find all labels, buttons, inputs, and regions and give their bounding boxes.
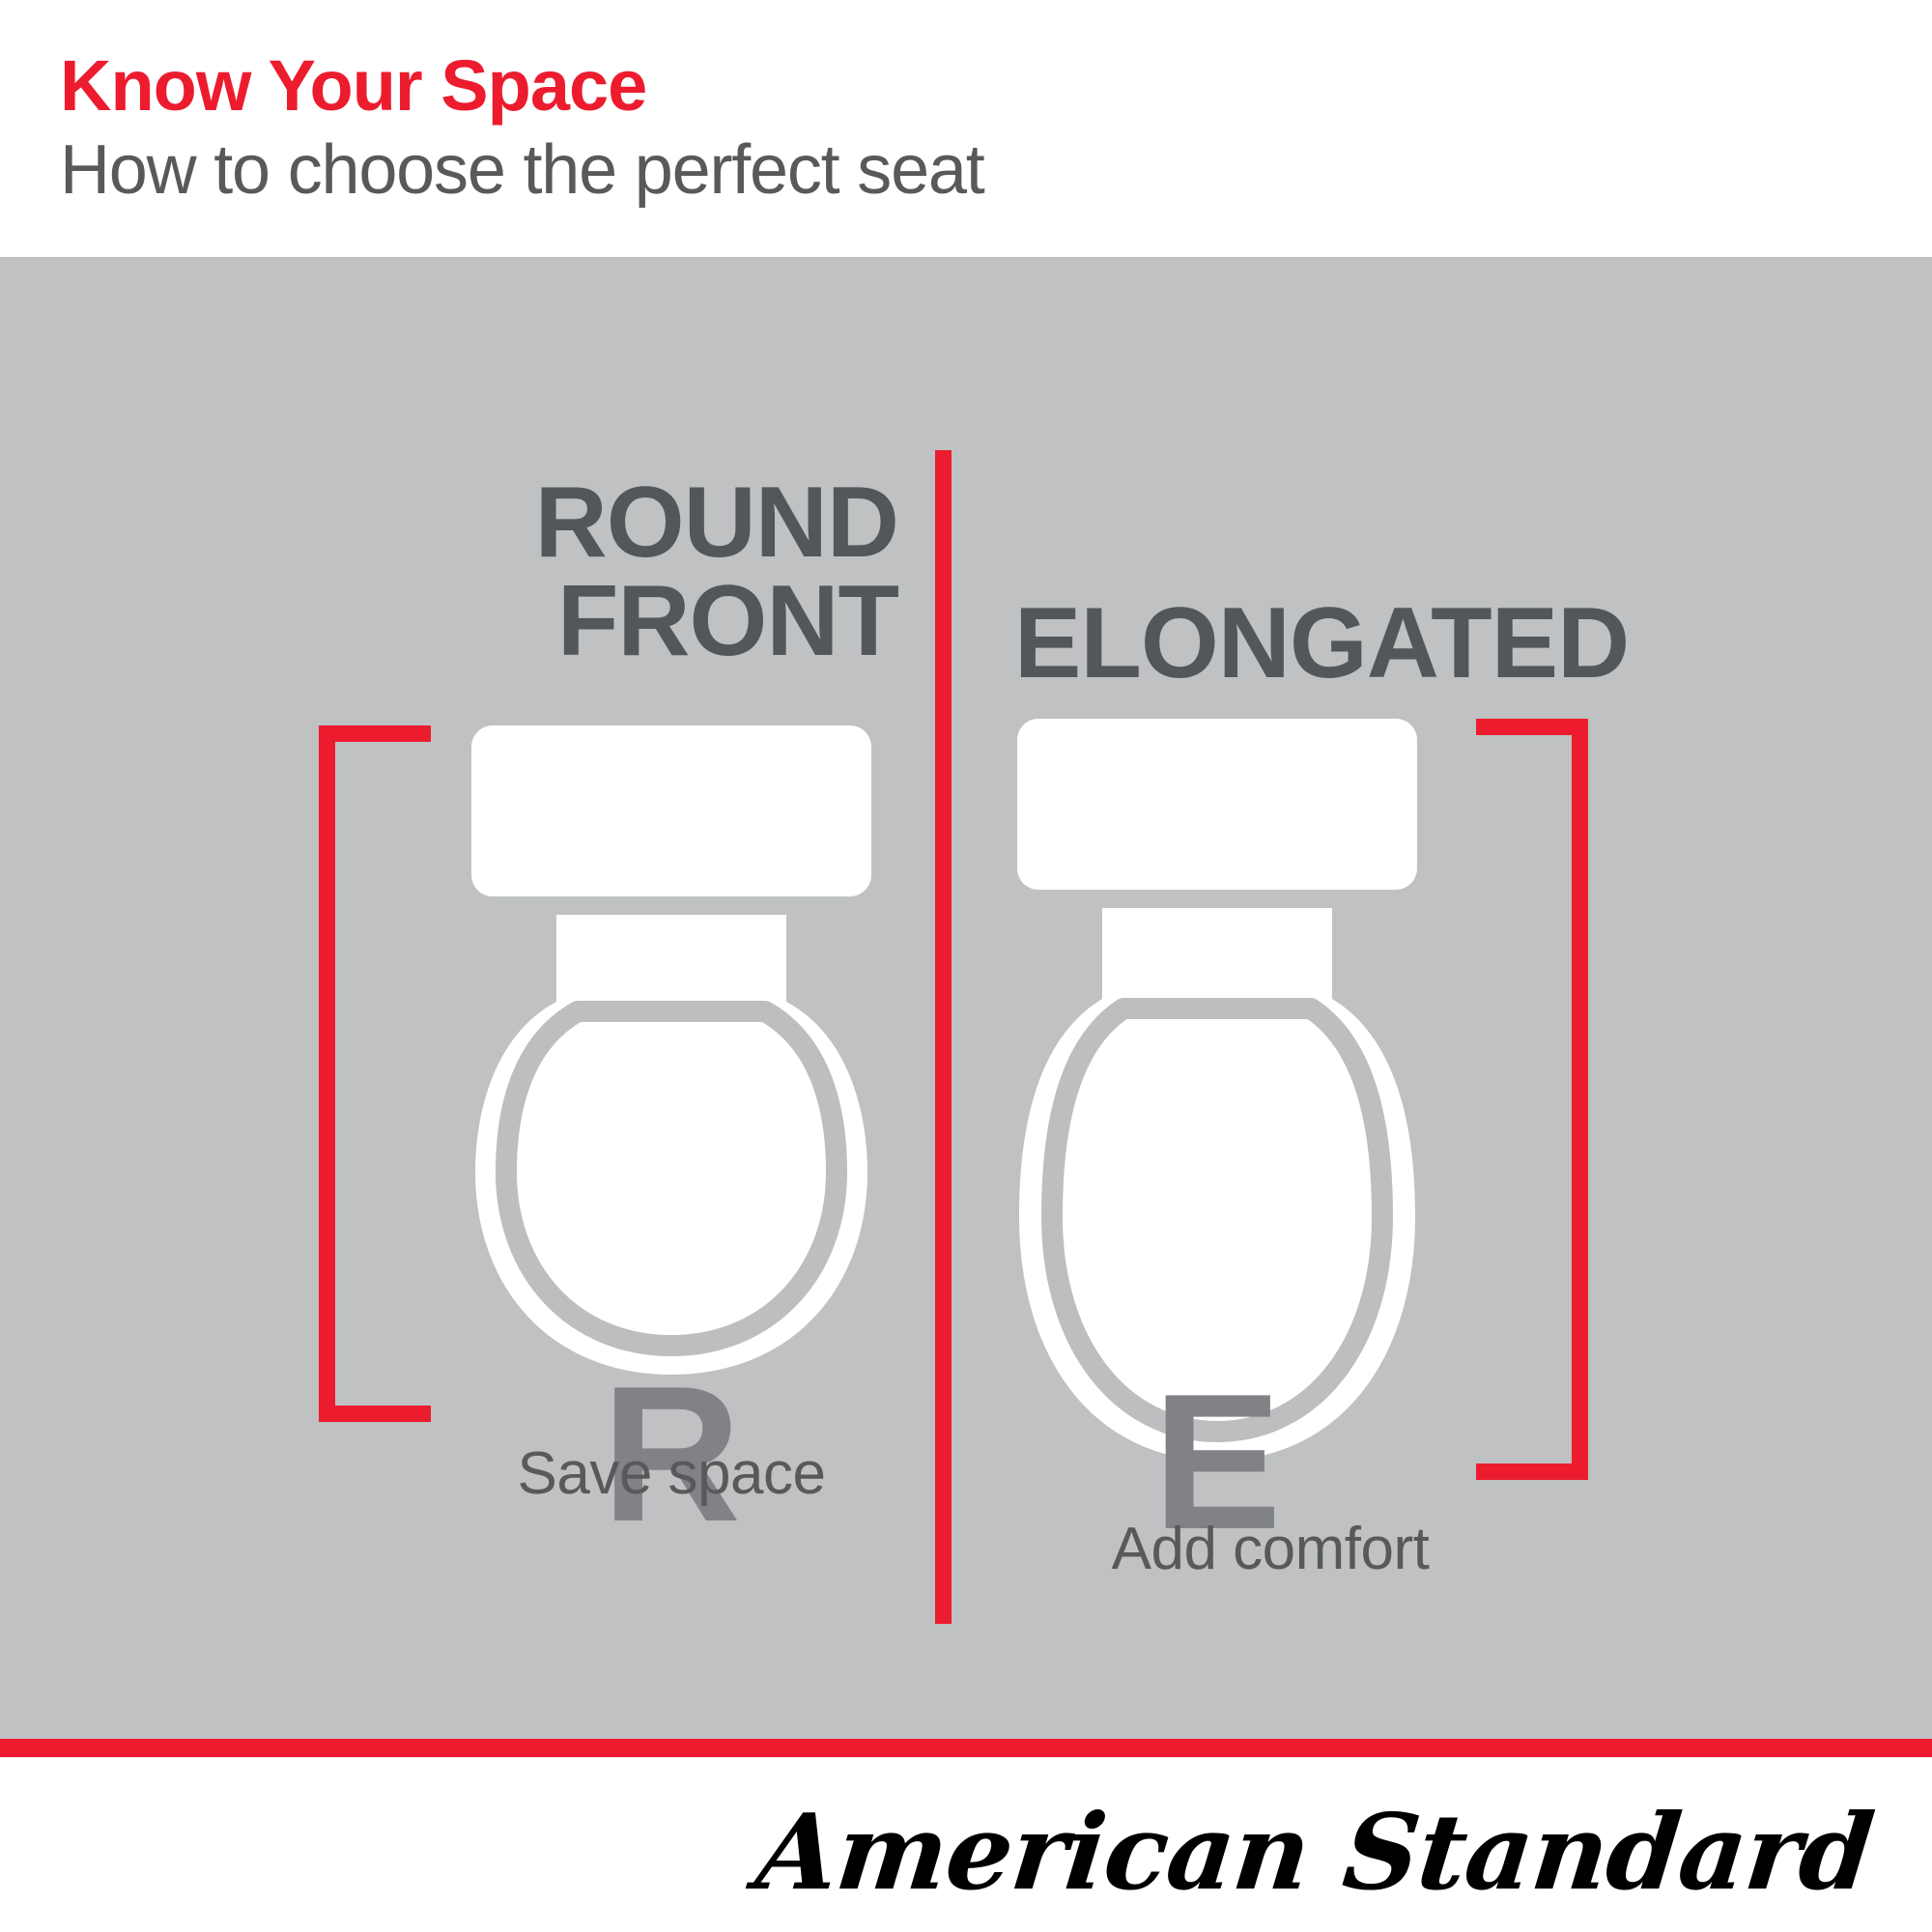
round-front-toilet-icon bbox=[464, 725, 879, 1402]
bracket-bottom-arm bbox=[1476, 1463, 1588, 1480]
accent-bar bbox=[0, 1739, 1932, 1757]
footer-band: American Standard bbox=[0, 1757, 1932, 1932]
heading-round-front-line2: FRONT bbox=[535, 573, 898, 671]
caption-save-space: Save space bbox=[386, 1444, 956, 1504]
heading-elongated-line1: ELONGATED bbox=[1014, 587, 1629, 699]
toilet-tank-shape bbox=[1017, 719, 1417, 890]
brand-logo: American Standard bbox=[752, 1792, 1879, 1914]
heading-round-front-line1: ROUND bbox=[535, 474, 898, 573]
bracket-elongated bbox=[1476, 719, 1588, 1480]
page-subtitle: How to choose the perfect seat bbox=[60, 135, 984, 205]
toilet-bowl-shape bbox=[475, 915, 867, 1375]
heading-elongated: ELONGATED bbox=[1014, 595, 1629, 694]
header-band: Know Your Space How to choose the perfec… bbox=[0, 0, 1932, 257]
toilet-tank-shape bbox=[471, 725, 871, 896]
bracket-top-arm bbox=[1476, 719, 1588, 735]
page-title: Know Your Space bbox=[60, 50, 646, 122]
bracket-bottom-arm bbox=[319, 1406, 431, 1422]
bracket-vertical-bar bbox=[319, 725, 335, 1422]
bracket-vertical-bar bbox=[1572, 719, 1588, 1480]
heading-round-front: ROUND FRONT bbox=[535, 474, 898, 671]
bracket-top-arm bbox=[319, 725, 431, 742]
caption-add-comfort: Add comfort bbox=[985, 1520, 1555, 1579]
bracket-round-front bbox=[319, 725, 431, 1422]
comparison-panel: ROUND FRONT ELONGATED R bbox=[0, 257, 1932, 1739]
